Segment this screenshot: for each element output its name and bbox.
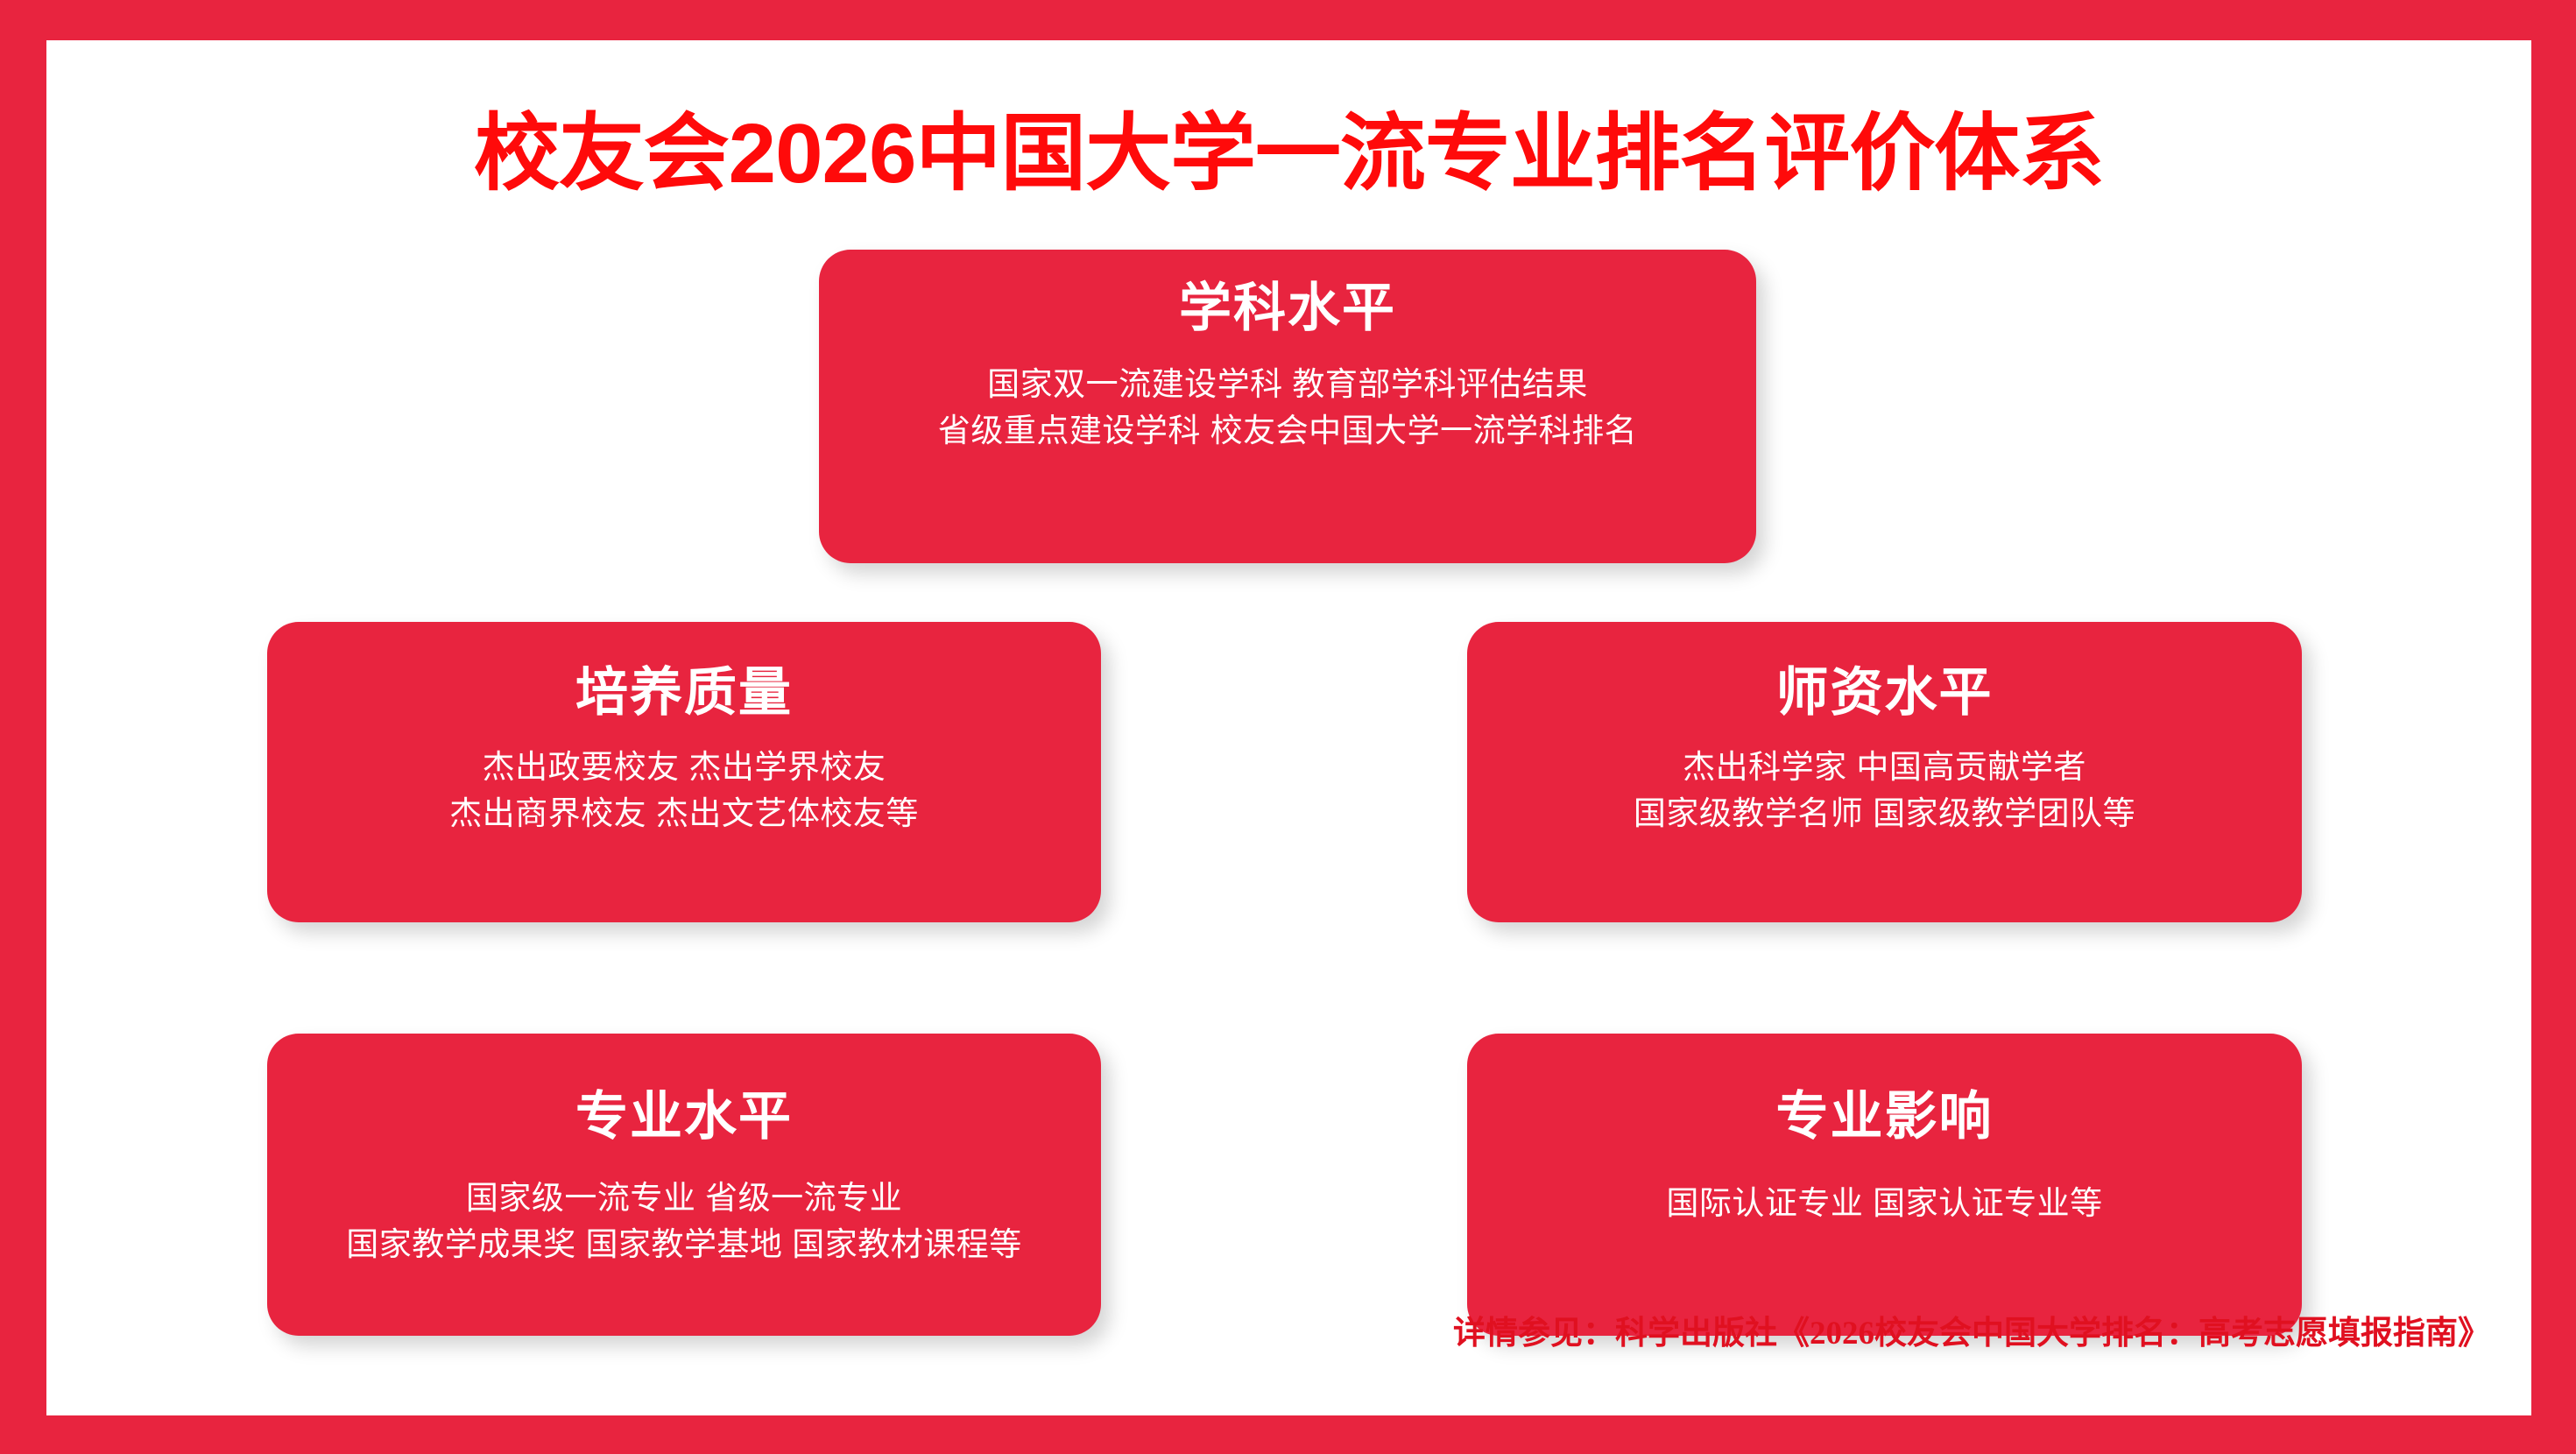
card-training-line-2: 杰出商界校友 杰出文艺体校友等 <box>449 791 919 837</box>
card-training-title: 培养质量 <box>575 664 793 722</box>
card-discipline[interactable]: 学科水平 国家双一流建设学科 教育部学科评估结果 省级重点建设学科 校友会中国大… <box>819 250 1756 563</box>
page-title: 校友会2026中国大学一流专业排名评价体系 <box>22 109 2557 200</box>
card-faculty-line-2: 国家级教学名师 国家级教学团队等 <box>1634 791 2135 837</box>
card-major-impact-details: 国际认证专业 国家认证专业等 <box>1666 1181 2102 1227</box>
card-major-impact[interactable]: 专业影响 国际认证专业 国家认证专业等 <box>1467 1034 2302 1336</box>
card-discipline-title: 学科水平 <box>1179 279 1396 337</box>
card-major-level-title: 专业水平 <box>575 1088 793 1146</box>
card-training[interactable]: 培养质量 杰出政要校友 杰出学界校友 杰出商界校友 杰出文艺体校友等 <box>267 622 1101 922</box>
card-faculty[interactable]: 师资水平 杰出科学家 中国高贡献学者 国家级教学名师 国家级教学团队等 <box>1467 622 2302 922</box>
source-note: 详情参见：科学出版社《2026校友会中国大学排名：高考志愿填报指南》 <box>1453 1315 2490 1353</box>
card-discipline-line-1: 国家双一流建设学科 教育部学科评估结果 <box>938 362 1637 408</box>
card-faculty-details: 杰出科学家 中国高贡献学者 国家级教学名师 国家级教学团队等 <box>1634 745 2135 836</box>
card-faculty-title: 师资水平 <box>1776 664 1994 722</box>
card-major-level-details: 国家级一流专业 省级一流专业 国家教学成果奖 国家教学基地 国家教材课程等 <box>346 1175 1022 1267</box>
card-major-level-line-2: 国家教学成果奖 国家教学基地 国家教材课程等 <box>346 1222 1022 1268</box>
poster-frame: 校友会2026中国大学一流专业排名评价体系 学科水平 国家双一流建设学科 教育部… <box>0 0 2576 1454</box>
card-major-level-line-1: 国家级一流专业 省级一流专业 <box>346 1175 1022 1222</box>
card-major-impact-title: 专业影响 <box>1776 1088 1994 1146</box>
card-major-level[interactable]: 专业水平 国家级一流专业 省级一流专业 国家教学成果奖 国家教学基地 国家教材课… <box>267 1034 1101 1336</box>
card-discipline-details: 国家双一流建设学科 教育部学科评估结果 省级重点建设学科 校友会中国大学一流学科… <box>938 362 1637 454</box>
card-training-line-1: 杰出政要校友 杰出学界校友 <box>449 745 919 791</box>
card-faculty-line-1: 杰出科学家 中国高贡献学者 <box>1634 745 2135 791</box>
poster-canvas: 校友会2026中国大学一流专业排名评价体系 学科水平 国家双一流建设学科 教育部… <box>46 40 2531 1415</box>
card-training-details: 杰出政要校友 杰出学界校友 杰出商界校友 杰出文艺体校友等 <box>449 745 919 836</box>
card-discipline-line-2: 省级重点建设学科 校友会中国大学一流学科排名 <box>938 408 1637 455</box>
card-major-impact-line-1: 国际认证专业 国家认证专业等 <box>1666 1181 2102 1227</box>
